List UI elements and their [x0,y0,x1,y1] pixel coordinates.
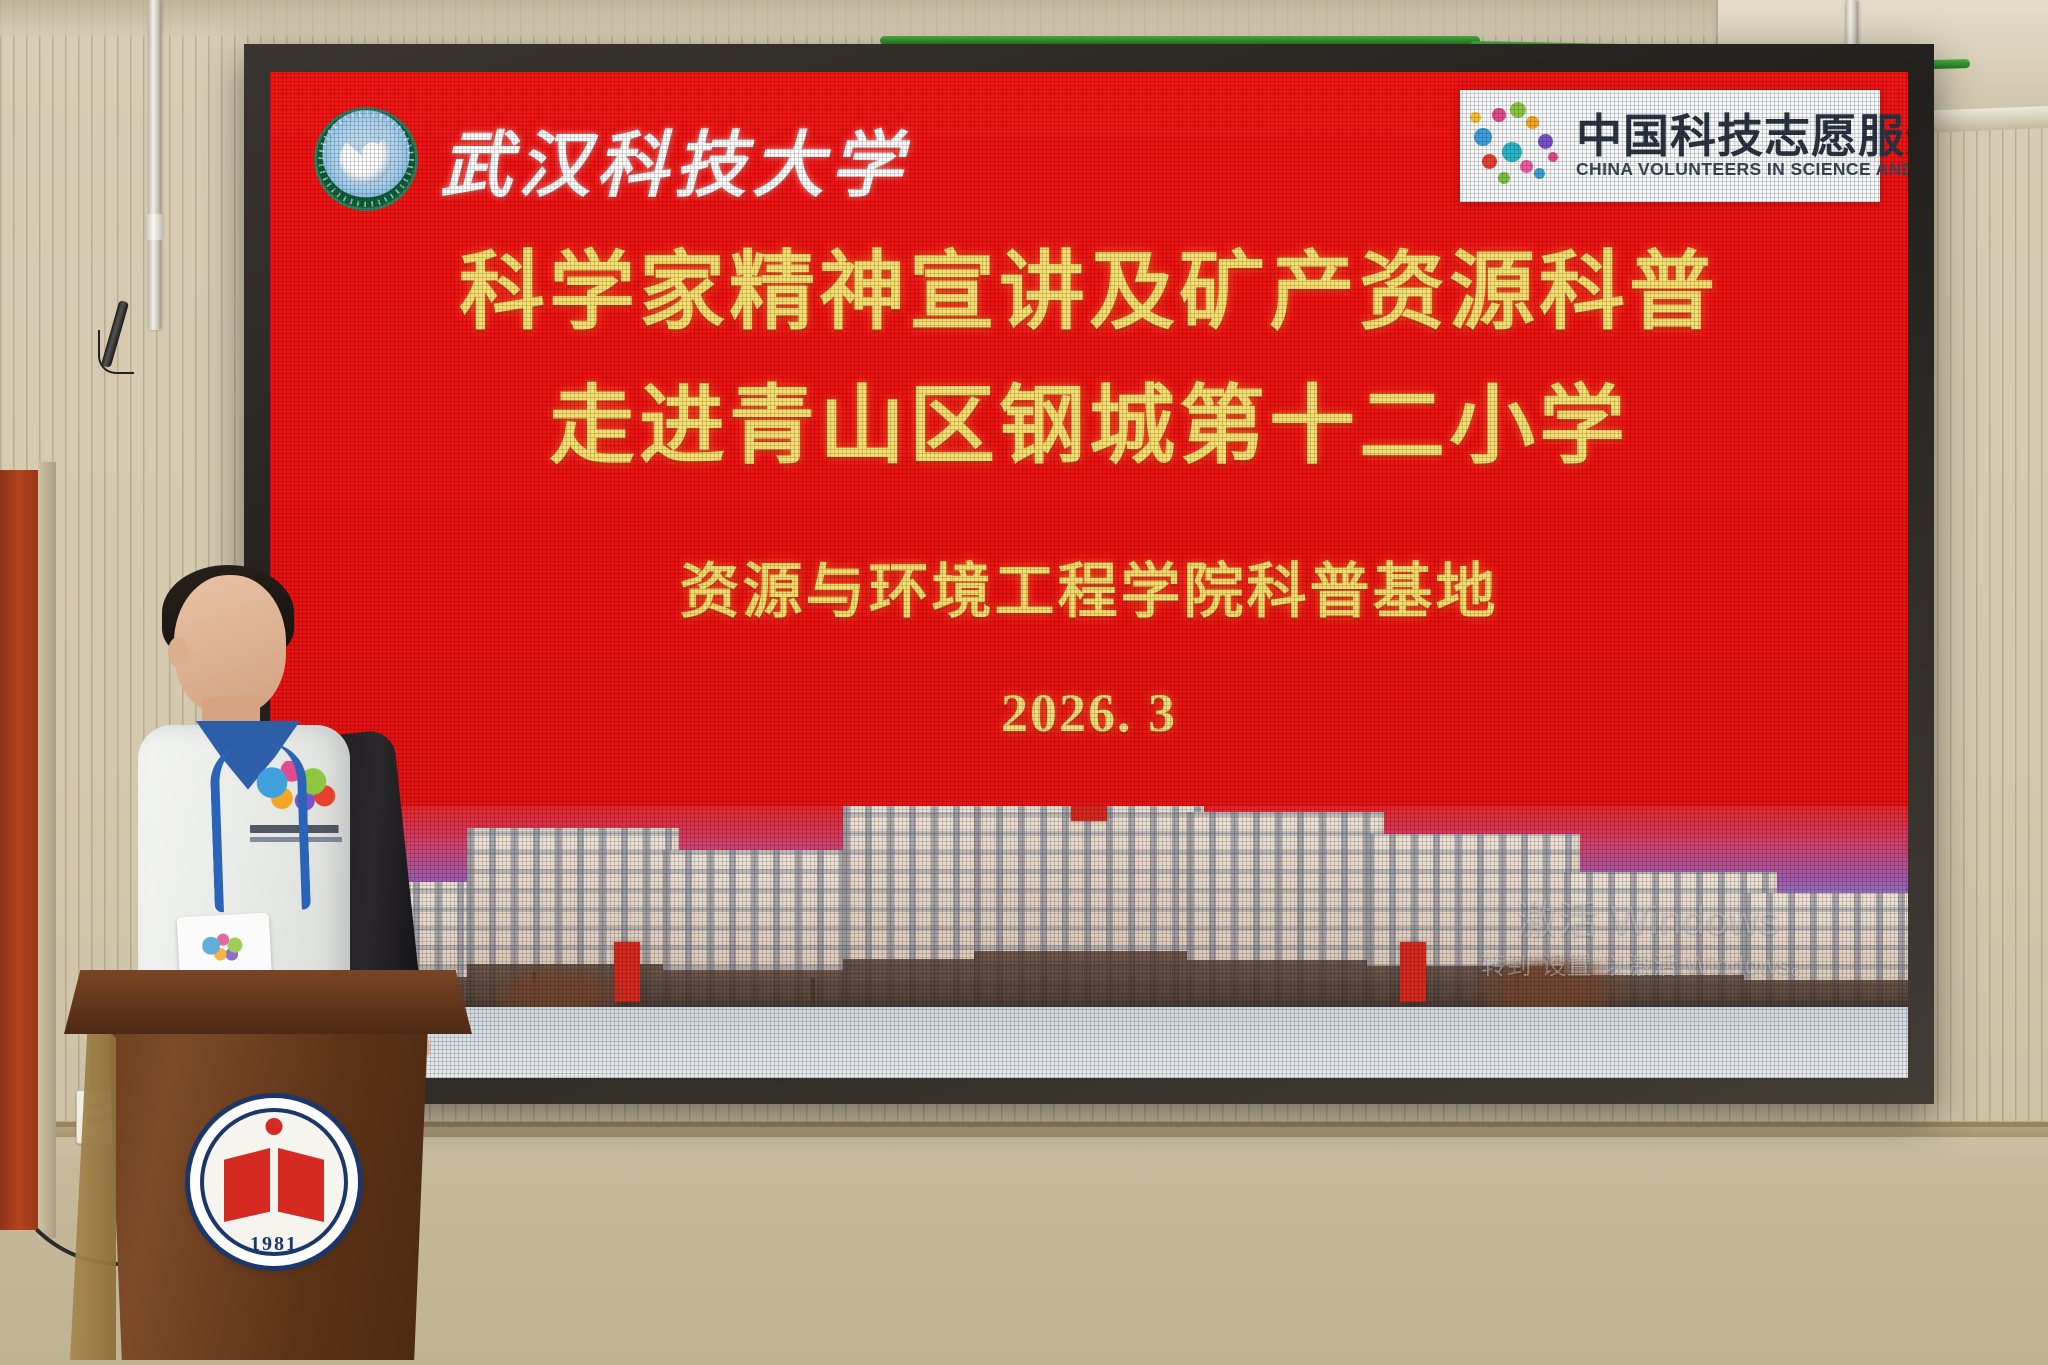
led-screen[interactable]: 武汉科技大学 中国 [270,72,1908,1078]
speaker-ear [168,637,188,667]
volunteer-logo-text: 中国科技志愿服务 CHINA VOLUNTEERS IN SCIENCE AND… [1576,113,1870,179]
volunteer-logo-cn: 中国科技志愿服务 [1576,113,1870,159]
speaker-head [174,575,286,715]
building-block [1187,812,1384,1008]
university-seal-icon [314,107,418,211]
slide-headline-line1: 科学家精神宣讲及矿产资源科普 [270,244,1908,340]
volunteer-logo-plate: 中国科技志愿服务 CHINA VOLUNTEERS IN SCIENCE AND… [1460,90,1880,202]
building-block [1744,893,1908,1007]
red-door[interactable] [0,470,42,1230]
pipe-joint [145,214,164,240]
vertical-banner [1400,942,1426,1002]
podium-side-panel [70,1010,116,1360]
emblem-dot-icon [266,1118,283,1135]
slide-organizer: 资源与环境工程学院科普基地 [270,543,1908,630]
lecture-hall-scene: 武汉科技大学 中国 [0,0,2048,1365]
lanyard [209,741,311,912]
slide-date: 2026. 3 [270,682,1908,744]
university-lockup: 武汉科技大学 [314,106,908,211]
building-block [843,806,990,1007]
campus-photo-band [270,806,1908,1078]
volunteer-confetti-icon [1468,98,1564,194]
tree-canopy-icon [483,964,630,1013]
school-emblem: 1981 [190,1098,358,1266]
hanging-pipe-icon [148,0,161,330]
seal-swirl-icon [340,133,392,185]
led-screen-bezel: 武汉科技大学 中国 [244,44,1934,1104]
podium: 1981 [72,970,464,1360]
antenna-cable [98,330,134,374]
slide-text-block: 科学家精神宣讲及矿产资源科普 走进青山区钢城第十二小学 资源与环境工程学院科普基… [270,244,1908,744]
photo-ground [270,1007,1908,1078]
building-block-main [974,806,1203,1007]
slide-headline-line2: 走进青山区钢城第十二小学 [270,378,1908,474]
university-name: 武汉科技大学 [440,106,908,211]
volunteer-logo-en: CHINA VOLUNTEERS IN SCIENCE AND TECHNOLO… [1576,161,1870,179]
tree-canopy-icon [1466,953,1630,1013]
emblem-book-icon [224,1148,324,1222]
podium-top [64,970,472,1034]
emblem-year: 1981 [190,1233,358,1256]
building-block [663,850,860,1008]
door-frame [38,462,56,1238]
badge-logo-icon [202,932,248,964]
